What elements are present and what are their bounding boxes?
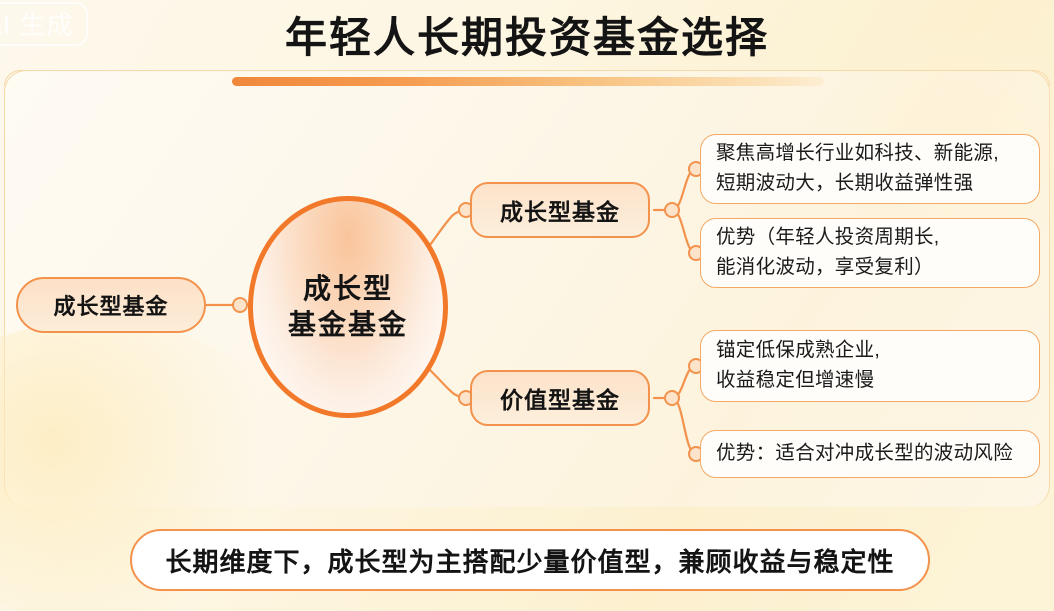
card-line-2: 短期波动大，长期收益弹性强: [716, 169, 1024, 199]
summary-banner[interactable]: 长期维度下，成长型为主搭配少量价值型，兼顾收益与稳定性: [130, 529, 930, 591]
frame-accent-bar: [232, 77, 824, 86]
card-line-2: 能消化波动，享受复利）: [716, 253, 1024, 283]
branch-value-label: 价值型基金: [500, 381, 620, 415]
detail-card-growth-1[interactable]: 聚焦高增长行业如科技、新能源, 短期波动大，长期收益弹性强: [700, 134, 1040, 204]
infographic-canvas: AI 生成 年轻人长期投资基金选择: [0, 0, 1054, 611]
node-left-growth-fund[interactable]: 成长型基金: [16, 277, 206, 333]
node-root-center[interactable]: 成长型 基金基金: [248, 196, 448, 418]
node-left-label: 成长型基金: [53, 289, 168, 321]
frame-notch-right: [818, 70, 1050, 86]
card-line-1: 优势：适合对冲成长型的波动风险: [716, 439, 1024, 469]
detail-card-value-2[interactable]: 优势：适合对冲成长型的波动风险: [700, 430, 1040, 478]
root-label-line-1: 成长型: [303, 271, 393, 307]
summary-banner-text: 长期维度下，成长型为主搭配少量价值型，兼顾收益与稳定性: [165, 542, 894, 579]
root-label-line-2: 基金基金: [288, 307, 408, 343]
detail-card-growth-2[interactable]: 优势（年轻人投资周期长, 能消化波动，享受复利）: [700, 218, 1040, 288]
card-line-1: 优势（年轻人投资周期长,: [716, 223, 1024, 253]
detail-card-value-1[interactable]: 锚定低保成熟企业, 收益稳定但增速慢: [700, 330, 1040, 402]
page-title: 年轻人长期投资基金选择: [0, 4, 1054, 65]
node-branch-value-fund[interactable]: 价值型基金: [470, 370, 650, 426]
card-line-2: 收益稳定但增速慢: [716, 366, 1024, 396]
card-line-1: 锚定低保成熟企业,: [716, 336, 1024, 366]
branch-growth-label: 成长型基金: [500, 193, 620, 227]
node-branch-growth-fund[interactable]: 成长型基金: [470, 182, 650, 238]
card-line-1: 聚焦高增长行业如科技、新能源,: [716, 139, 1024, 169]
frame-notch-left: [4, 70, 236, 86]
